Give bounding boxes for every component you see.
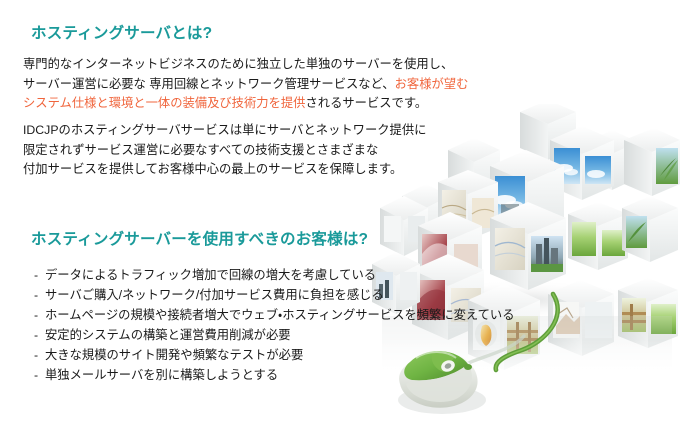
intro-p1-line2-highlight: お客様が望む (395, 77, 469, 91)
list-item: -安定的システムの構築と運営費用削減が必要 (34, 326, 515, 346)
list-item-label: ホームページの規模や接続者増大でウェブ・ホスティングサービスを頻繁に変えている (45, 308, 515, 322)
list-item-label: サーバご購入/ネットワーク/付加サービス費用に負担を感じる (45, 288, 384, 302)
list-item: -単独メールサーバを別に構築しようとする (34, 366, 515, 386)
intro-p1-line2: サーバー運営に必要な 専用回線とネットワーク管理サービスなど、 (23, 77, 395, 91)
audience-bullet-list: -データによるトラフィック増加で回線の増大を考慮している-サーバご購入/ネットワ… (34, 266, 515, 385)
list-item-label: 単独メールサーバを別に構築しようとする (45, 368, 278, 382)
bullet-marker: - (34, 306, 45, 326)
intro-paragraph-1: 専門的なインターネットビジネスのために独立した単独のサーバーを使用し、 サーバー… (23, 55, 468, 114)
section-heading-audience: ホスティングサーバーを使用すべきのお客様は? (31, 227, 368, 249)
intro-p1-line1: 専門的なインターネットビジネスのために独立した単独のサーバーを使用し、 (23, 57, 453, 71)
intro-p2-line2: 限定されずサービス運営に必要なすべての技術支援とさまざまな (23, 143, 378, 157)
list-item: -データによるトラフィック増加で回線の増大を考慮している (34, 266, 515, 286)
list-item-label: 安定的システムの構築と運営費用削減が必要 (45, 328, 291, 342)
bullet-marker: - (34, 366, 45, 386)
intro-paragraph-2: IDCJPのホスティングサーバサービスは単にサーバとネットワーク提供に 限定され… (23, 121, 426, 180)
intro-p2-line3: 付加サービスを提供してお客様中心の最上のサービスを保障します。 (23, 162, 402, 176)
list-item-label: 大きな規模のサイト開発や頻繁なテストが必要 (45, 348, 303, 362)
page-root: ホスティングサーバとは? 専門的なインターネットビジネスのために独立した単独のサ… (0, 0, 680, 425)
list-item-label: データによるトラフィック増加で回線の増大を考慮している (45, 268, 376, 282)
list-item: -大きな規模のサイト開発や頻繁なテストが必要 (34, 346, 515, 366)
bullet-marker: - (34, 266, 45, 286)
list-item: -サーバご購入/ネットワーク/付加サービス費用に負担を感じる (34, 286, 515, 306)
text-content: ホスティングサーバとは? 専門的なインターネットビジネスのために独立した単独のサ… (0, 0, 520, 425)
intro-p2-line1: IDCJPのホスティングサーバサービスは単にサーバとネットワーク提供に (23, 123, 426, 137)
section-heading-intro: ホスティングサーバとは? (31, 21, 212, 43)
bullet-marker: - (34, 346, 45, 366)
bullet-marker: - (34, 326, 45, 346)
intro-p1-line3-highlight: システム仕様と環境と一体の装備及び技術力を提供 (23, 96, 305, 110)
intro-p1-line3: されるサービスです。 (305, 96, 427, 110)
bullet-marker: - (34, 286, 45, 306)
list-item: -ホームページの規模や接続者増大でウェブ・ホスティングサービスを頻繁に変えている (34, 306, 515, 326)
